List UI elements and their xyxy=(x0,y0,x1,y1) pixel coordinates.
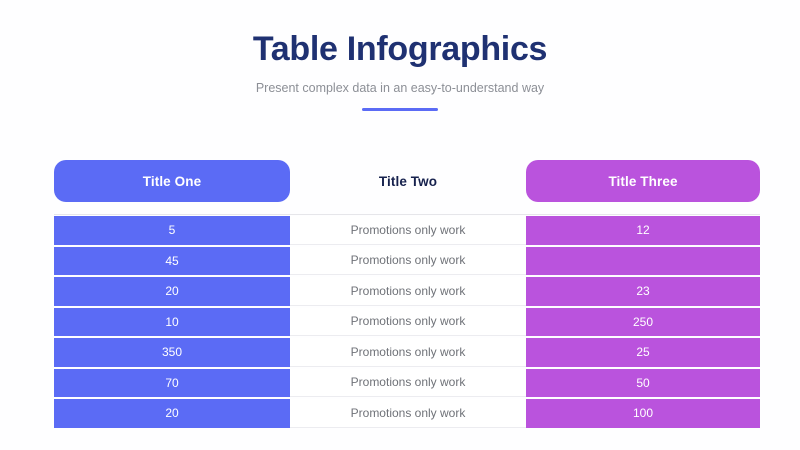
page-subtitle: Present complex data in an easy-to-under… xyxy=(0,80,800,96)
cell-col2: Promotions only work xyxy=(290,247,526,276)
cell-col2: Promotions only work xyxy=(290,277,526,306)
cell-col3: 50 xyxy=(526,369,760,398)
page-title: Table Infographics xyxy=(0,28,800,70)
cell-col3 xyxy=(526,247,760,276)
cell-col2: Promotions only work xyxy=(290,369,526,398)
slide-canvas: Table Infographics Present complex data … xyxy=(0,0,800,450)
table-row: 5 Promotions only work 12 xyxy=(54,216,760,245)
table-row: 350 Promotions only work 25 xyxy=(54,338,760,367)
cell-col3: 12 xyxy=(526,216,760,245)
column-header-two[interactable]: Title Two xyxy=(290,160,526,202)
table-row: 10 Promotions only work 250 xyxy=(54,308,760,337)
column-header-three[interactable]: Title Three xyxy=(526,160,760,202)
cell-col3: 25 xyxy=(526,338,760,367)
accent-divider xyxy=(362,108,438,111)
cell-col1: 10 xyxy=(54,308,290,337)
cell-col1: 45 xyxy=(54,247,290,276)
cell-col1: 20 xyxy=(54,399,290,428)
cell-col2: Promotions only work xyxy=(290,308,526,337)
table-body: 5 Promotions only work 12 45 Promotions … xyxy=(54,214,760,428)
header-block: Table Infographics Present complex data … xyxy=(0,28,800,111)
table-header-row: Title One Title Two Title Three xyxy=(54,160,760,202)
cell-col3: 250 xyxy=(526,308,760,337)
table-row: 45 Promotions only work xyxy=(54,247,760,276)
table-row: 20 Promotions only work 100 xyxy=(54,399,760,428)
cell-col3: 100 xyxy=(526,399,760,428)
cell-col1: 70 xyxy=(54,369,290,398)
column-header-one[interactable]: Title One xyxy=(54,160,290,202)
cell-col2: Promotions only work xyxy=(290,216,526,245)
cell-col2: Promotions only work xyxy=(290,399,526,428)
table-row: 20 Promotions only work 23 xyxy=(54,277,760,306)
table-row: 70 Promotions only work 50 xyxy=(54,369,760,398)
cell-col1: 5 xyxy=(54,216,290,245)
infographic-table: Title One Title Two Title Three 5 Promot… xyxy=(54,160,760,428)
cell-col3: 23 xyxy=(526,277,760,306)
cell-col2: Promotions only work xyxy=(290,338,526,367)
cell-col1: 20 xyxy=(54,277,290,306)
cell-col1: 350 xyxy=(54,338,290,367)
